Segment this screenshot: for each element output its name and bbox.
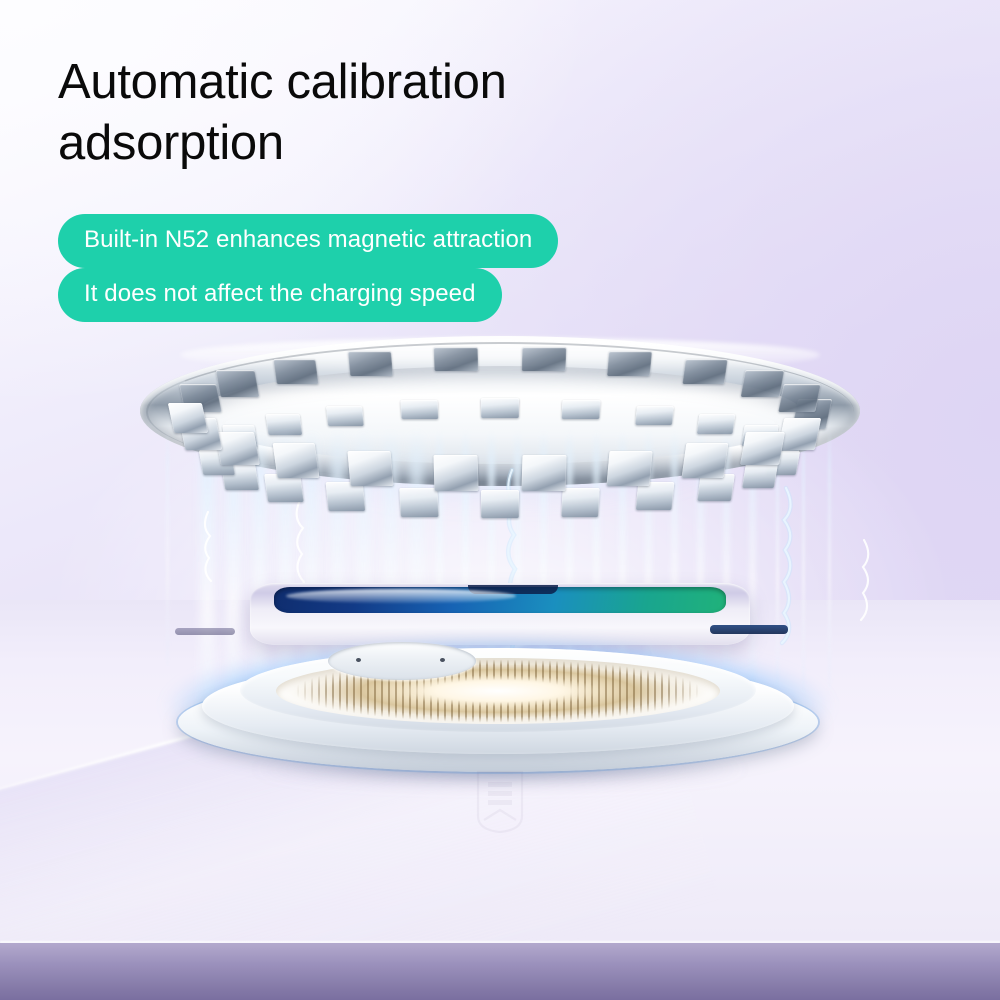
magnet-segment — [682, 359, 727, 384]
coil-hub — [328, 642, 476, 680]
badge-magnetic: Built-in N52 enhances magnetic attractio… — [58, 214, 558, 268]
magnet-segment-lower — [697, 414, 736, 434]
magnet-segment-lower — [481, 490, 519, 519]
magnet-segment — [168, 403, 208, 433]
magnet-ring — [140, 336, 860, 516]
magnet-segment-lower — [635, 482, 674, 510]
magnet-ring-body — [140, 336, 860, 504]
magnet-segment-lower — [742, 463, 778, 488]
magnet-segment — [681, 443, 727, 478]
table-front-face — [0, 943, 1000, 1000]
magnet-segment — [607, 451, 653, 486]
magnet-segment — [273, 359, 318, 384]
coil-hub-dot — [440, 658, 445, 662]
magnet-segment — [215, 370, 259, 397]
magnet-segment-lower — [697, 474, 735, 501]
magnet-segment — [348, 351, 393, 376]
magnet-segment — [740, 370, 784, 397]
magnet-segment — [273, 443, 319, 478]
magnet-segment — [433, 455, 478, 491]
magnet-segment-lower — [326, 406, 364, 426]
magnet-segment — [607, 351, 652, 376]
embossed-brand-mark — [466, 768, 534, 836]
magnet-segment-lower — [400, 400, 438, 419]
magnet-segment — [740, 432, 785, 465]
page-title: Automatic calibration adsorption — [58, 52, 818, 174]
coil-hub-dot — [356, 658, 361, 662]
magnet-segment — [778, 384, 821, 412]
magnet-segment-lower — [481, 398, 519, 417]
magnet-segment-lower — [325, 482, 365, 511]
magnet-segment-lower — [264, 474, 304, 502]
phone-screen-gloss — [286, 589, 516, 603]
magnet-segment-lower — [400, 488, 439, 517]
magnet-segment-lower — [265, 414, 302, 435]
feature-badge-list: Built-in N52 enhances magnetic attractio… — [58, 214, 558, 322]
magnet-segment — [347, 451, 393, 486]
magnet-segment — [522, 347, 567, 371]
wireless-charger — [178, 628, 818, 773]
magnet-segment — [522, 455, 567, 491]
product-image-stage: Automatic calibration adsorption Built-i… — [0, 0, 1000, 1000]
magnet-segment-lower — [635, 406, 674, 425]
magnet-segment-lower — [561, 488, 600, 517]
magnet-segment-lower — [561, 400, 600, 419]
badge-charging: It does not affect the charging speed — [58, 268, 502, 322]
magnet-segment — [433, 347, 478, 371]
